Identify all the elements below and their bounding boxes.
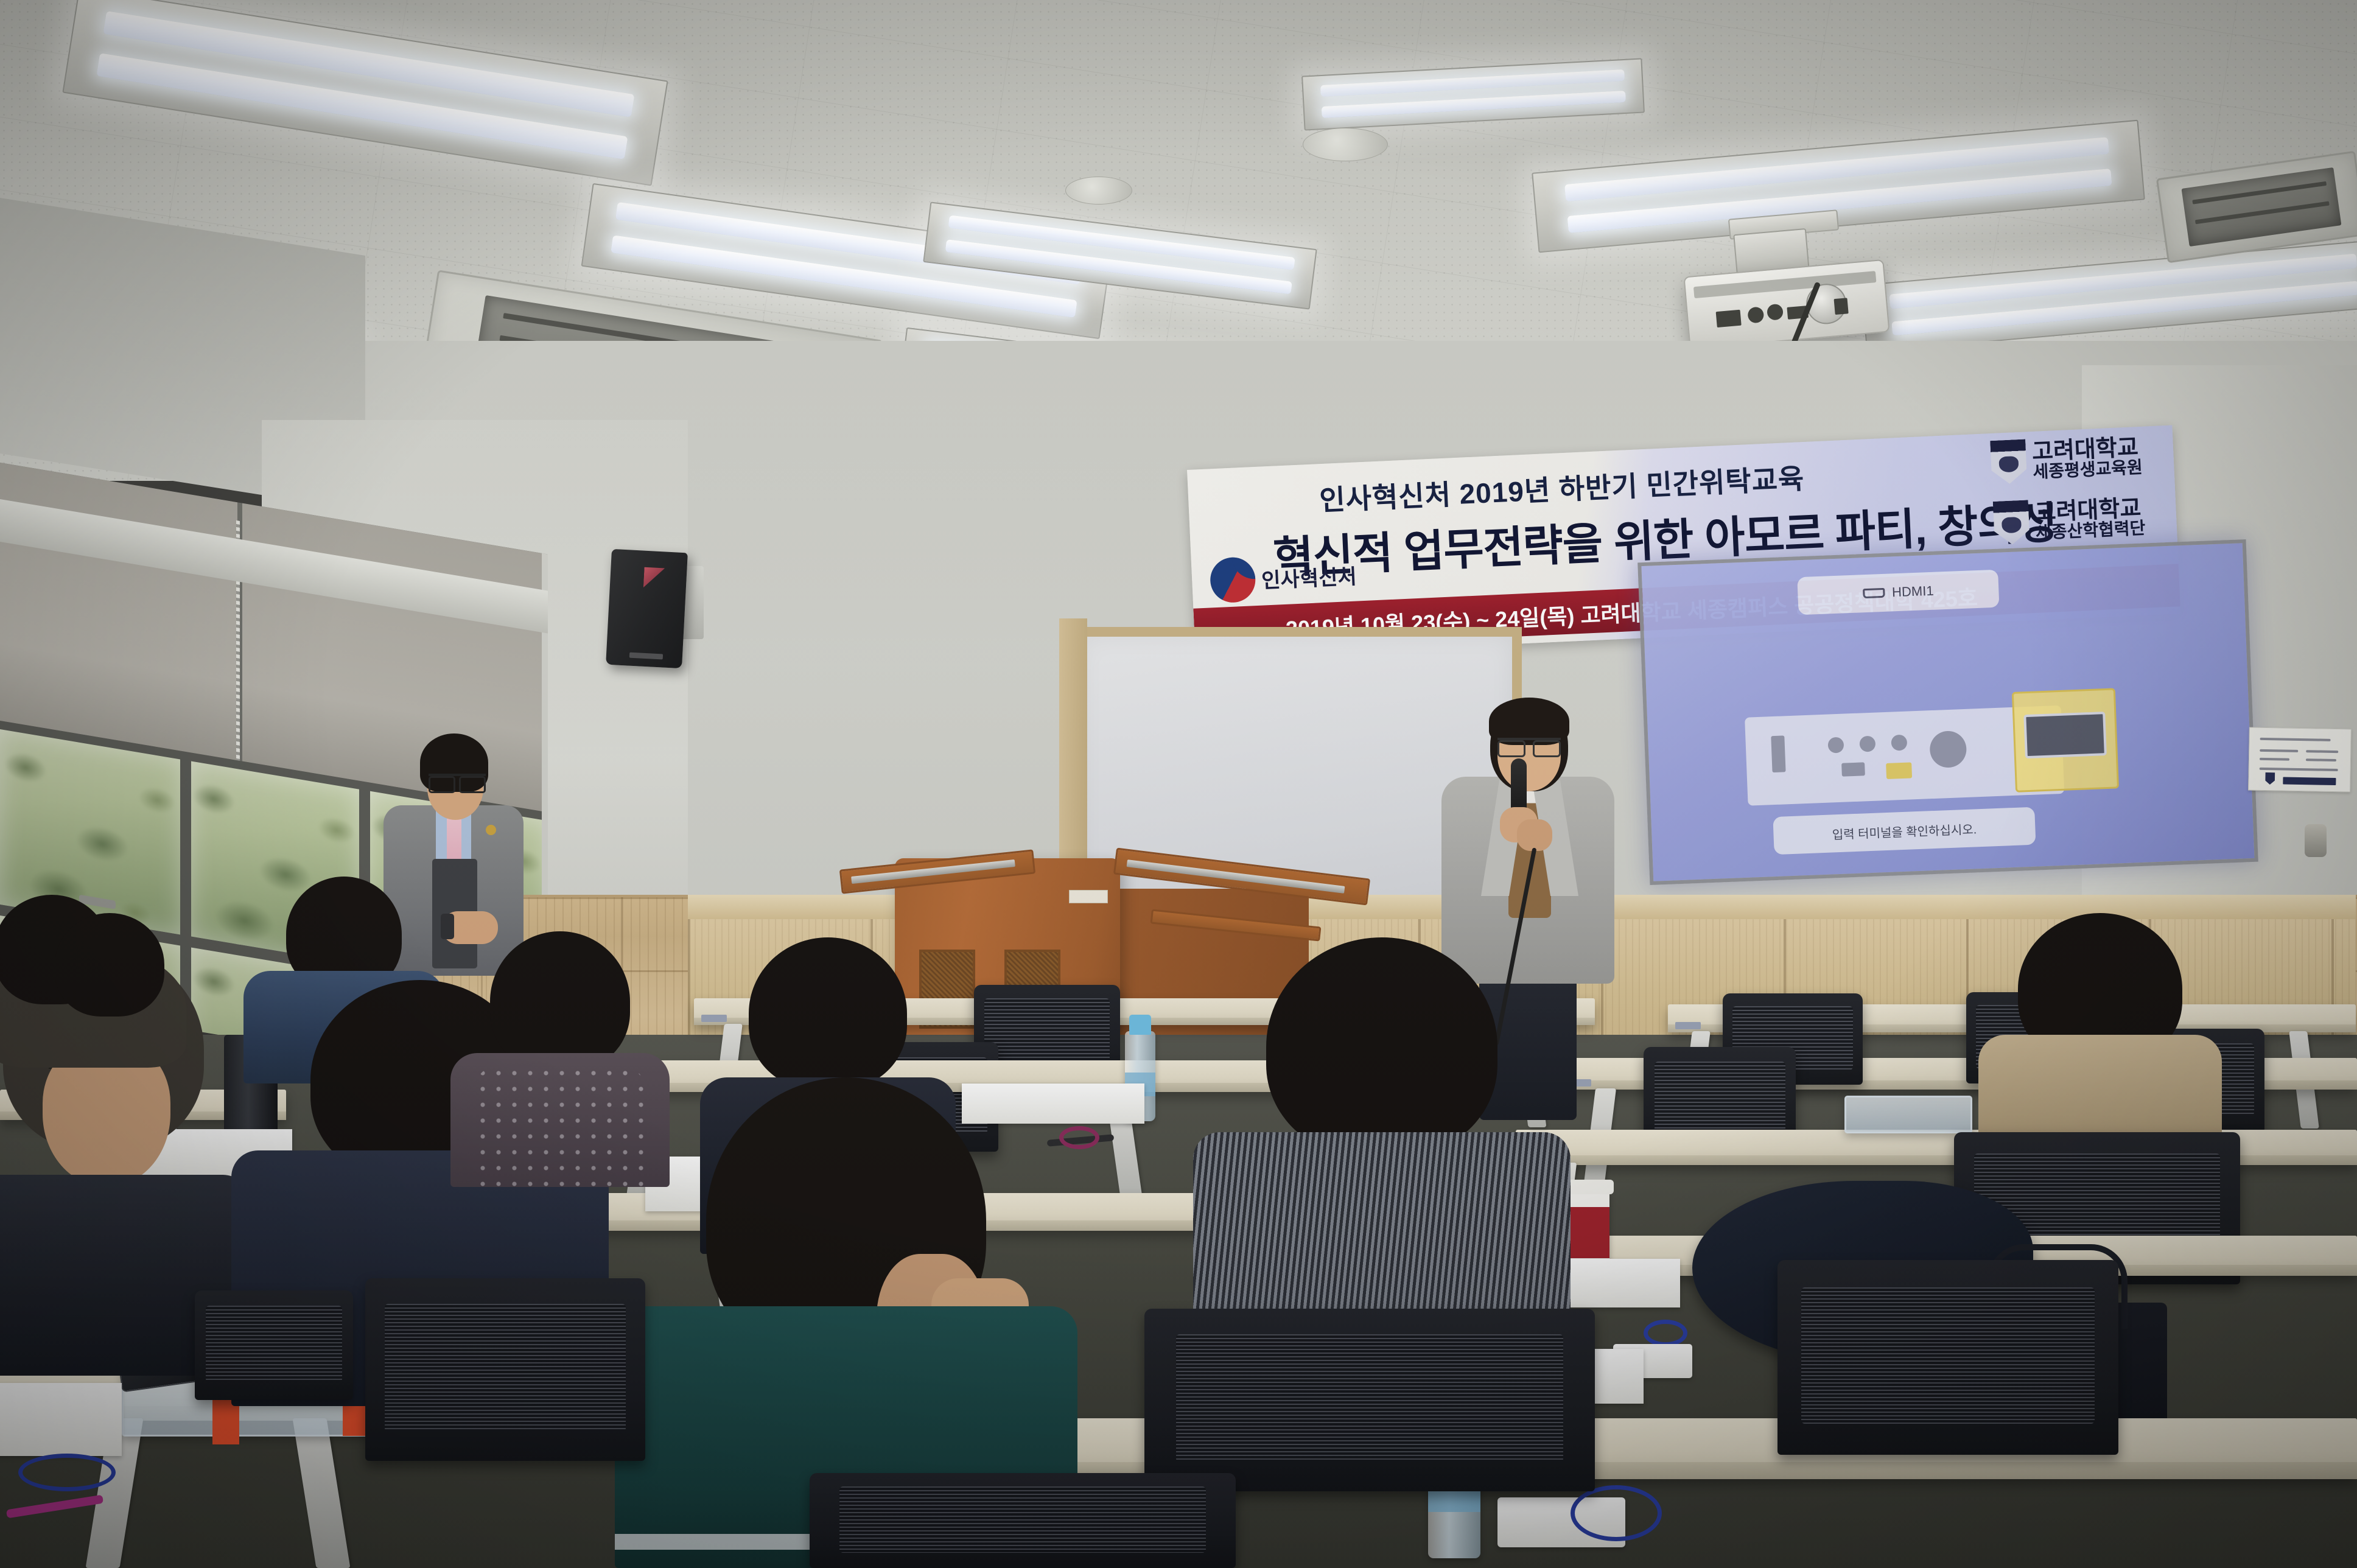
ku-logo-line2: 세종평생교육원 [2033,459,2143,481]
smoke-detector [1303,128,1388,161]
seminar-room-photo: 인사혁신처 2019년 하반기 민간위탁교육 혁신적 업무전략을 위한 아모르 … [0,0,2357,1568]
lectern-nameplate [1069,890,1108,903]
ku-shield-icon [1990,439,2027,485]
ku-shield-icon [1993,500,2030,545]
wall-mounted-speaker [606,549,688,668]
head [1266,937,1497,1157]
name-badge-lanyard[interactable] [1571,1485,1662,1541]
projector-message-osd: 입력 터미널을 확인하십시오. [1773,807,2036,855]
head [55,913,164,1017]
projector-message-text: 입력 터미널을 확인하십시오. [1832,819,1977,842]
eyeglasses [429,774,486,787]
hdmi-port-icon [1863,588,1885,598]
plastic-storage-box[interactable] [1844,1096,1972,1133]
ku-shield-icon [2265,772,2275,785]
speaker-brand-mark [629,652,662,659]
audience-far-left-head [49,913,170,1035]
taegeuk-icon [1210,556,1256,603]
hdmi-connector-icon [2023,712,2107,758]
paper-handout[interactable] [0,1383,122,1456]
head [490,931,630,1071]
projector-input-label: HDMI1 [1892,583,1934,601]
chair[interactable] [365,1278,645,1461]
wall-notice-poster [2248,727,2352,793]
chair[interactable] [1777,1260,2118,1455]
ku-logo-lifelong-education: 고려대학교 세종평생교육원 [1990,434,2143,485]
audience-right-beige-jacket [1978,913,2222,1169]
tweeter-icon [643,567,665,589]
projection-screen: HDMI1 입력 터미널을 확인하십시오. [1637,539,2258,885]
government-agency-label: 인사혁신처 [1261,559,1357,593]
head [749,937,907,1090]
chair[interactable] [810,1473,1236,1568]
lapel-pin [486,825,496,835]
ku-logo-line2: 세종산학협력단 [2036,520,2146,542]
government-emblem: 인사혁신처 [1209,545,1412,608]
chair[interactable] [1144,1309,1595,1491]
name-badge-lanyard[interactable] [1644,1320,1687,1346]
door-handle[interactable] [2305,824,2327,857]
hand [1517,819,1552,851]
ku-wordmark [2283,777,2336,785]
projector-input-osd: HDMI1 [1797,570,1999,615]
name-badge-lanyard[interactable] [18,1454,116,1491]
smoke-detector [1065,177,1132,205]
chair[interactable] [195,1290,353,1400]
ku-logo-industry-cooperation: 고려대학교 세종산학협력단 [1993,495,2146,545]
eyeglasses [1497,738,1561,751]
